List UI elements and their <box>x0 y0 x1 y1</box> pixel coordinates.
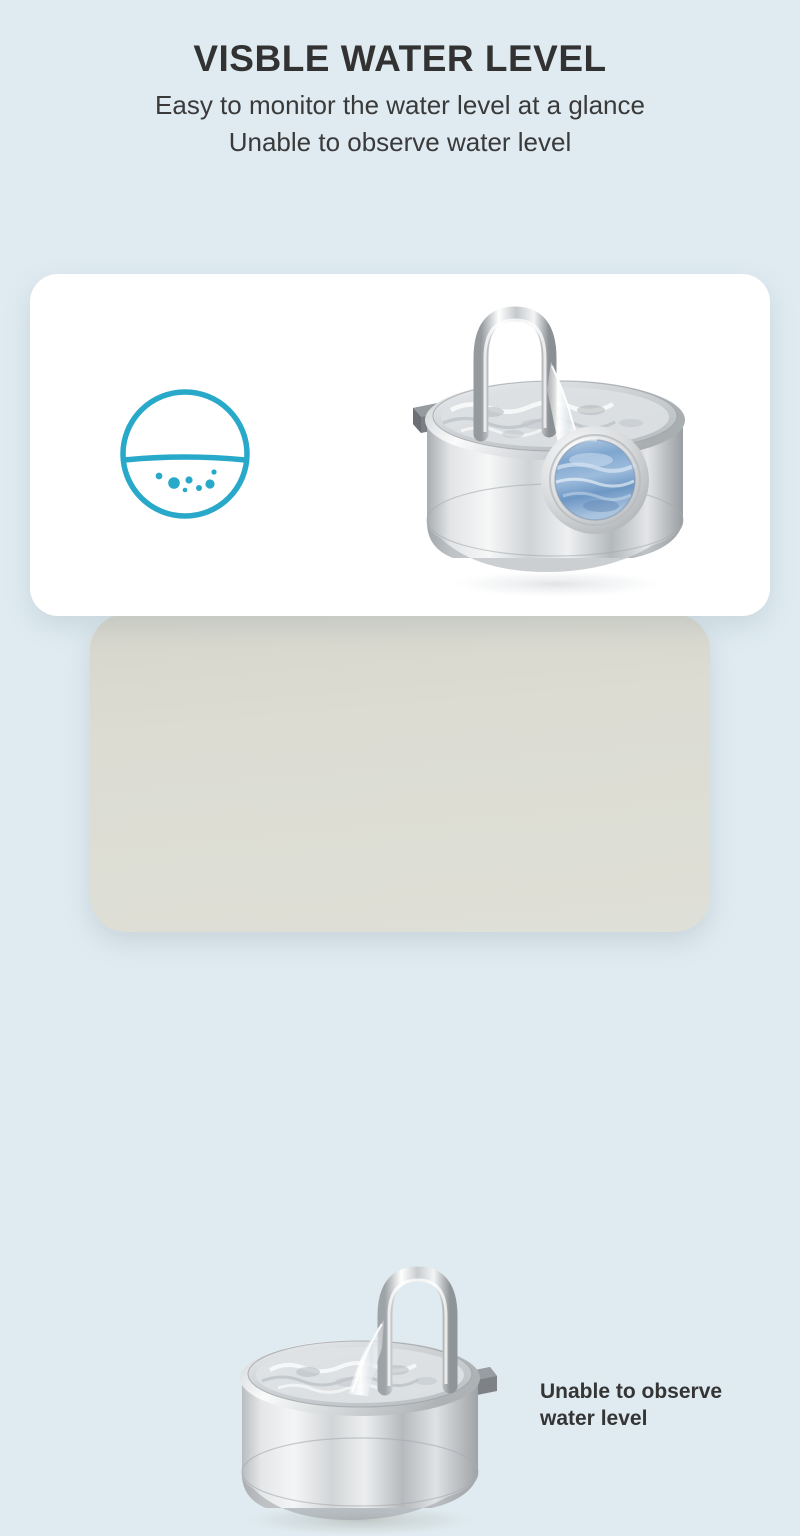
caption-unable-to-observe: Unable to observe water level <box>540 1379 780 1432</box>
water-level-icon-svg <box>115 384 255 524</box>
comparison-panel-without-window: Unable to observe water level <box>90 614 710 932</box>
icon-bubbles <box>156 469 217 492</box>
feature-card-with-window <box>30 274 770 616</box>
fountain-no-window-svg <box>200 1236 520 1536</box>
fountain-with-window-svg <box>395 292 715 602</box>
product-shadow <box>445 570 669 598</box>
page-title: VISBLE WATER LEVEL <box>0 38 800 79</box>
caption-line-1: Unable to observe <box>540 1379 780 1406</box>
product-image-fountain-with-window <box>395 292 715 602</box>
water-level-circle-icon <box>115 384 255 524</box>
product-image-fountain-no-window <box>200 1236 520 1536</box>
icon-circle-outline <box>123 392 247 516</box>
page-subtitle-primary: Easy to monitor the water level at a gla… <box>0 88 800 122</box>
page-subtitle-secondary: Unable to observe water level <box>0 125 800 159</box>
header-block: VISBLE WATER LEVEL Easy to monitor the w… <box>0 0 800 159</box>
icon-water-line <box>125 457 246 460</box>
caption-line-2: water level <box>540 1406 780 1433</box>
water-level-window <box>541 426 649 534</box>
